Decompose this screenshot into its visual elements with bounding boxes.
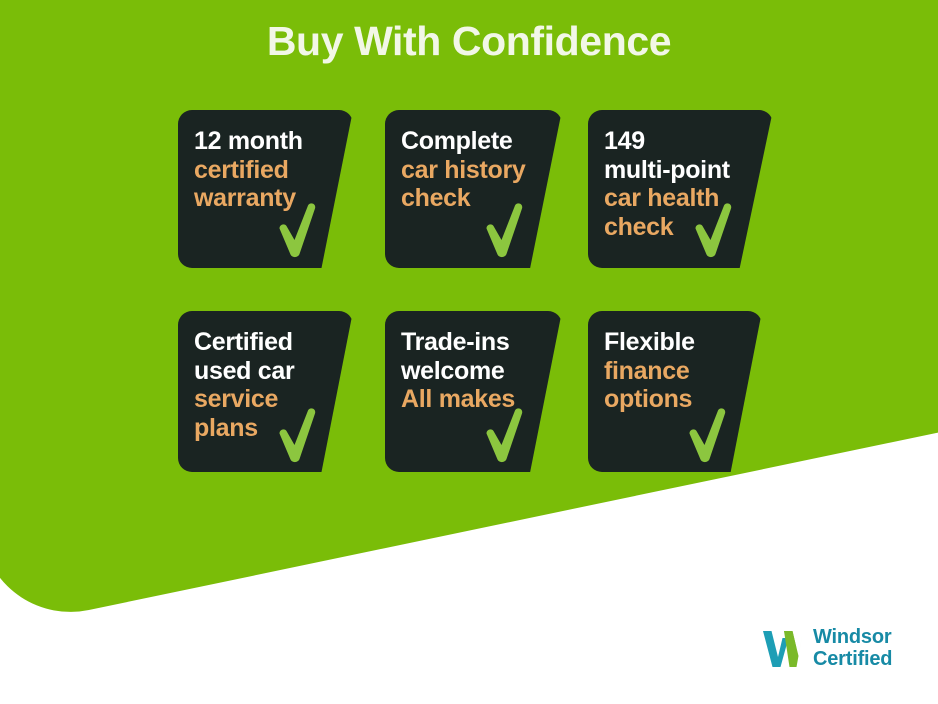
poster-canvas: Buy With Confidence 12 monthcertifiedwar… [0,0,938,704]
feature-card-line: used car [194,357,339,386]
feature-card-line: 12 month [194,127,339,156]
feature-card-line: Trade-ins [401,328,548,357]
windsor-w-icon [760,626,806,670]
feature-card-line: multi-point [604,156,759,185]
feature-card-line: certified [194,156,339,185]
check-icon [693,202,739,258]
check-icon [277,202,323,258]
feature-card-text: Trade-inswelcomeAll makes [401,328,548,414]
check-icon [484,407,530,463]
feature-card-line: car history [401,156,548,185]
feature-card-line: finance [604,357,748,386]
check-icon [687,407,733,463]
logo-line-1: Windsor [813,626,892,648]
feature-card-line: Certified [194,328,339,357]
check-icon [484,202,530,258]
windsor-certified-logo: Windsor Certified [760,626,892,671]
feature-card-line: Complete [401,127,548,156]
logo-line-2: Certified [813,648,892,670]
feature-card-text: Completecar historycheck [401,127,548,213]
check-icon [277,407,323,463]
page-title: Buy With Confidence [0,18,938,65]
logo-wordmark: Windsor Certified [813,626,892,671]
feature-card-text: Flexiblefinanceoptions [604,328,748,414]
feature-card-line: Flexible [604,328,748,357]
feature-card-line: welcome [401,357,548,386]
feature-card-line: 149 [604,127,759,156]
feature-card-text: 12 monthcertifiedwarranty [194,127,339,213]
